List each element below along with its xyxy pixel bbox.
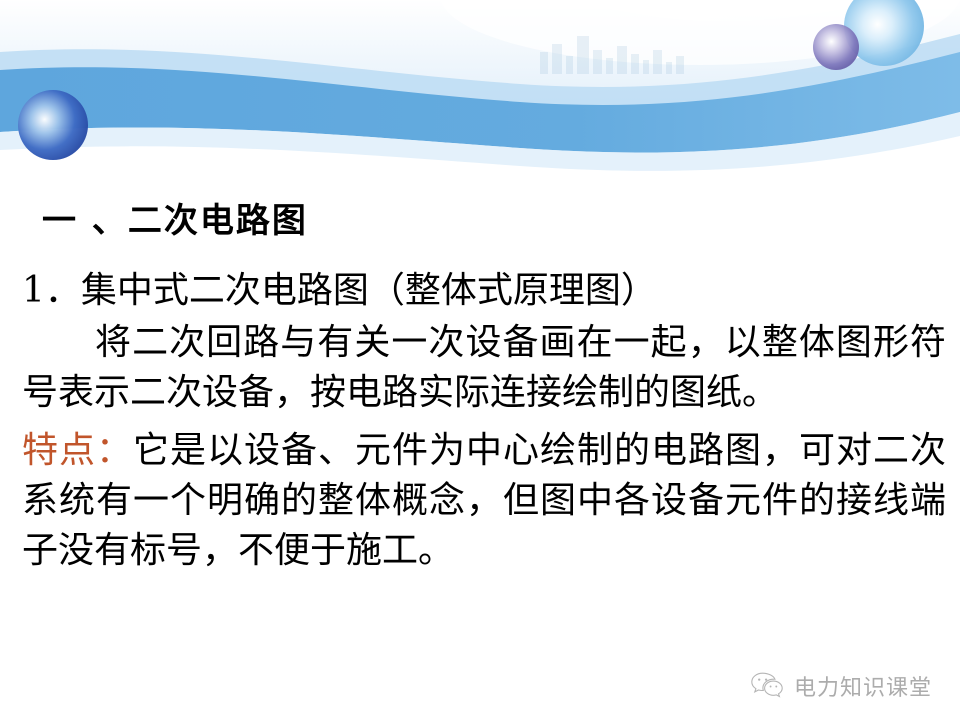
slide-content: 一 、二次电路图 1．集中式二次电路图（整体式原理图） 将二次回路与有关一次设备… [0,190,960,576]
definition-text: 将二次回路与有关一次设备画在一起，以整体图形符号表示二次设备，按电路实际连接绘制… [22,322,946,413]
sphere-purple-icon [813,24,859,70]
footer-watermark: 电力知识课堂 [750,670,932,702]
wechat-icon [750,671,784,701]
section-subtitle: 1．集中式二次电路图（整体式原理图） [0,244,960,314]
slide-canvas: ewar [0,0,960,720]
feature-text: 它是以设备、元件为中心绘制的电路图，可对二次系统有一个明确的整体概念，但图中各设… [22,430,946,571]
feature-separator: ： [96,430,133,471]
banner-graphic [0,0,960,190]
footer-watermark-label: 电力知识课堂 [794,670,932,702]
sphere-dark-blue-icon [18,90,88,160]
header-banner: ewar [0,0,960,190]
page-title: 一 、二次电路图 [0,190,960,244]
feature-label: 特点 [22,430,96,471]
definition-paragraph: 将二次回路与有关一次设备画在一起，以整体图形符号表示二次设备，按电路实际连接绘制… [0,314,960,418]
feature-paragraph: 特点：它是以设备、元件为中心绘制的电路图，可对二次系统有一个明确的整体概念，但图… [0,418,960,576]
